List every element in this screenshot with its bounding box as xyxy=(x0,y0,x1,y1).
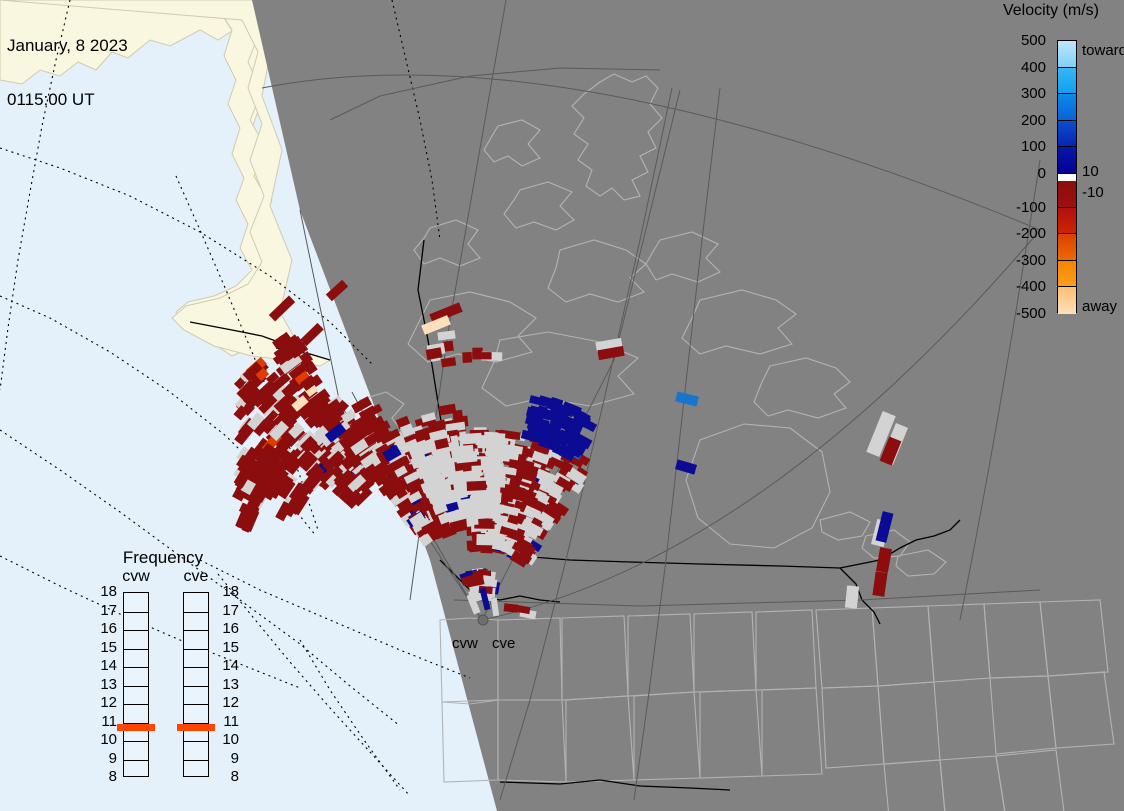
colorbar-toward-label: toward xyxy=(1082,42,1124,59)
frequency-gridline xyxy=(184,686,208,687)
colorbar-segment xyxy=(1058,147,1076,174)
frequency-gridline xyxy=(124,704,148,705)
frequency-tick-label: 16 xyxy=(93,620,117,637)
radar-cell xyxy=(467,481,487,491)
frequency-gridline xyxy=(184,704,208,705)
frequency-column-label-cve: cve xyxy=(173,568,219,586)
frequency-tick-label: 12 xyxy=(215,694,239,711)
frequency-tick-label: 14 xyxy=(215,657,239,674)
colorbar-tick-label: 400 xyxy=(984,59,1046,76)
colorbar-tick-label: 200 xyxy=(984,112,1046,129)
radar-cell xyxy=(476,534,493,545)
frequency-column-label-cvw: cvw xyxy=(113,568,159,586)
radar-cell xyxy=(269,296,295,322)
radar-cell xyxy=(675,391,699,406)
radar-cell xyxy=(471,465,481,476)
frequency-tick-label: 13 xyxy=(215,676,239,693)
frequency-legend: Frequency cvw18171615141312111098cve1817… xyxy=(88,548,248,788)
colorbar-tick-label: 300 xyxy=(984,85,1046,102)
frequency-tick-label: 14 xyxy=(93,657,117,674)
frequency-gridline xyxy=(184,612,208,613)
frequency-gridline xyxy=(124,741,148,742)
frequency-gridline xyxy=(124,760,148,761)
frequency-gridline xyxy=(124,612,148,613)
colorbar-negative-threshold-label: -10 xyxy=(1082,184,1104,201)
radar-cell xyxy=(452,410,463,421)
velocity-colorbar: Velocity (m/s) 5004003002001000-100-200-… xyxy=(985,0,1124,330)
radar-cell xyxy=(872,571,887,596)
radar-cell xyxy=(876,547,892,573)
colorbar-tick-label: -300 xyxy=(984,252,1046,269)
colorbar-segment xyxy=(1058,261,1076,288)
frequency-tick-label: 11 xyxy=(215,713,239,730)
colorbar-tick-label: -400 xyxy=(984,278,1046,295)
frequency-tick-label: 17 xyxy=(93,602,117,619)
frequency-tick-label: 8 xyxy=(215,768,239,785)
frequency-marker-cvw xyxy=(117,724,155,731)
frequency-gridline xyxy=(184,630,208,631)
time-text: 0115:00 UT xyxy=(7,91,128,109)
colorbar-tick-label: 500 xyxy=(984,32,1046,49)
frequency-gridline xyxy=(124,686,148,687)
frequency-gridline xyxy=(184,649,208,650)
colorbar-segment xyxy=(1058,234,1076,261)
colorbar-gradient xyxy=(1057,40,1077,313)
colorbar-tick-label: 100 xyxy=(984,138,1046,155)
radar-cell xyxy=(515,605,530,614)
frequency-tick-label: 11 xyxy=(93,713,117,730)
radar-cell xyxy=(437,330,455,340)
frequency-gridline xyxy=(184,667,208,668)
colorbar-tick-label: -200 xyxy=(984,225,1046,242)
frequency-marker-cve xyxy=(177,724,215,731)
colorbar-tick-label: -500 xyxy=(984,305,1046,322)
frequency-tick-label: 16 xyxy=(215,620,239,637)
frequency-tick-label: 9 xyxy=(215,750,239,767)
radar-cell xyxy=(472,352,491,359)
frequency-scale-cve xyxy=(183,592,209,777)
radar-cell xyxy=(491,598,499,617)
frequency-gridline xyxy=(184,741,208,742)
radar-cell xyxy=(845,585,859,608)
frequency-scale-cvw xyxy=(123,592,149,777)
frequency-gridline xyxy=(124,649,148,650)
colorbar-segment xyxy=(1058,121,1076,148)
colorbar-away-label: away xyxy=(1082,298,1117,315)
colorbar-tick-label: 0 xyxy=(984,165,1046,182)
colorbar-segment xyxy=(1058,41,1076,68)
frequency-tick-label: 9 xyxy=(93,750,117,767)
frequency-tick-label: 8 xyxy=(93,768,117,785)
radar-cell xyxy=(462,352,472,363)
radar-cell xyxy=(675,459,697,474)
colorbar-tick-label: -100 xyxy=(984,199,1046,216)
frequency-tick-label: 15 xyxy=(93,639,117,656)
colorbar-segment xyxy=(1058,181,1076,208)
radar-cell xyxy=(489,441,504,452)
timestamp-block: January, 8 2023 0115:00 UT xyxy=(7,1,128,145)
frequency-gridline xyxy=(184,760,208,761)
radar-cell xyxy=(488,463,502,473)
radar-cell xyxy=(326,280,348,301)
frequency-tick-label: 10 xyxy=(93,731,117,748)
frequency-tick-label: 18 xyxy=(93,583,117,600)
radar-cell xyxy=(456,451,478,464)
frequency-tick-label: 13 xyxy=(93,676,117,693)
frequency-tick-label: 15 xyxy=(215,639,239,656)
radar-cell xyxy=(441,357,456,367)
frequency-tick-label: 17 xyxy=(215,602,239,619)
frequency-tick-label: 10 xyxy=(215,731,239,748)
radar-cell xyxy=(300,323,324,346)
frequency-tick-label: 18 xyxy=(215,583,239,600)
radar-cell xyxy=(484,475,504,484)
colorbar-segment xyxy=(1058,208,1076,235)
radar-map-figure: cvw cve January, 8 2023 0115:00 UT Veloc… xyxy=(0,0,1124,811)
colorbar-title: Velocity (m/s) xyxy=(985,2,1117,20)
colorbar-segment xyxy=(1058,68,1076,95)
frequency-legend-title: Frequency xyxy=(88,548,238,568)
colorbar-segment xyxy=(1058,287,1076,314)
frequency-gridline xyxy=(124,630,148,631)
date-text: January, 8 2023 xyxy=(7,37,128,55)
colorbar-positive-threshold-label: 10 xyxy=(1082,163,1099,180)
frequency-tick-label: 12 xyxy=(93,694,117,711)
frequency-gridline xyxy=(124,667,148,668)
colorbar-segment xyxy=(1058,174,1076,181)
colorbar-segment xyxy=(1058,94,1076,121)
